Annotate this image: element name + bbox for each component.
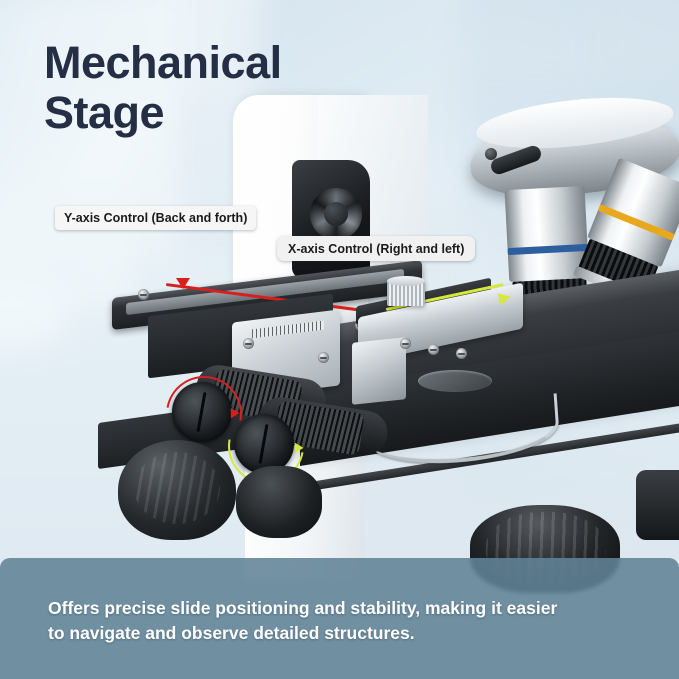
callout-y-axis-label: Y-axis Control (Back and forth) — [64, 211, 247, 225]
x-axis-arrow-head-icon — [498, 291, 512, 305]
coarse-focus-knob — [310, 188, 362, 240]
slide-holder-clip — [364, 393, 561, 468]
caption-line-2: to navigate and observe detailed structu… — [48, 621, 648, 646]
carrier-screw — [243, 338, 254, 349]
callout-x-axis-control: X-axis Control (Right and left) — [277, 236, 475, 261]
x-axis-rail-foot — [352, 337, 406, 405]
caption-line-1: Offers precise slide positioning and sta… — [48, 596, 648, 621]
callout-y-axis-control: Y-axis Control (Back and forth) — [55, 206, 256, 230]
page-title: Mechanical Stage — [44, 38, 282, 138]
x-rail-screw — [456, 348, 467, 359]
page-title-line-1: Mechanical — [44, 38, 282, 88]
base-foot-center — [236, 466, 322, 538]
base-block-right — [636, 470, 679, 540]
page-title-line-2: Stage — [44, 88, 282, 138]
product-feature-image: Mechanical Stage Y-axis Control (Back an… — [0, 0, 679, 679]
stage-adjust-screw-top — [387, 276, 425, 286]
turret-lever-knob — [485, 148, 497, 160]
y-axis-arrow-head-icon — [176, 278, 190, 289]
base-foot-left-ribs — [134, 452, 220, 524]
caption-text: Offers precise slide positioning and sta… — [48, 596, 648, 646]
carrier-screw — [318, 352, 329, 363]
callout-x-axis-label: X-axis Control (Right and left) — [288, 242, 464, 256]
slide-contact-pad — [418, 370, 492, 392]
x-rail-screw — [428, 344, 439, 355]
rail-screw — [138, 289, 149, 300]
x-rail-screw — [400, 338, 411, 349]
